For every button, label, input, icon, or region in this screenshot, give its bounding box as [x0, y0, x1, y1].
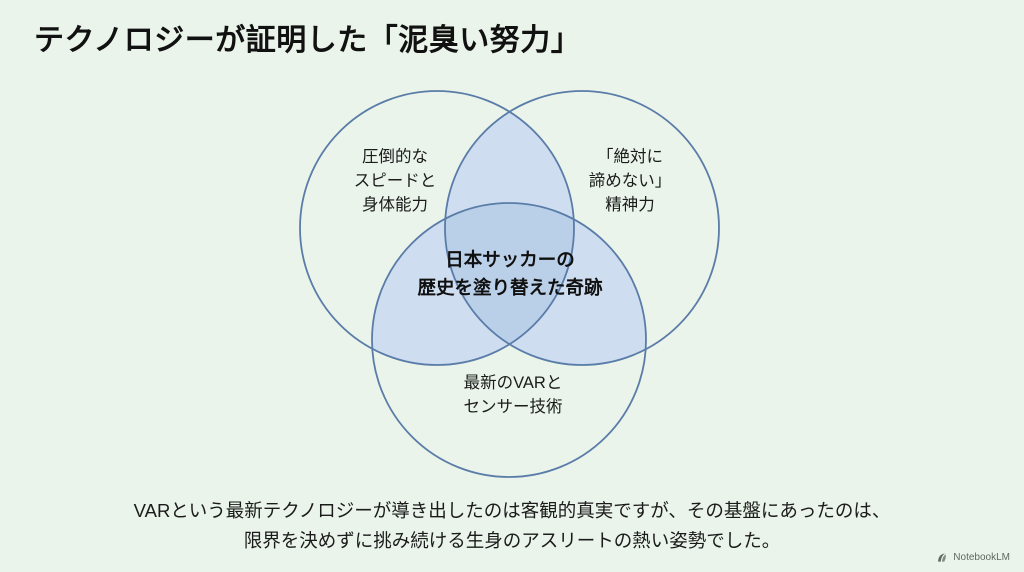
- venn-label-bottom: 最新のVARと センサー技術: [413, 372, 613, 420]
- venn-label-left-line2: スピードと: [300, 170, 490, 194]
- notebooklm-watermark-label: NotebookLM: [953, 552, 1010, 563]
- venn-label-center-line2: 歴史を塗り替えた奇跡: [360, 274, 660, 302]
- venn-label-center-line1: 日本サッカーの: [360, 246, 660, 274]
- venn-label-right-line3: 精神力: [535, 194, 725, 218]
- page-title: テクノロジーが証明した「泥臭い努力」: [34, 22, 581, 60]
- caption-line-2: 限界を決めずに挑み続ける生身のアスリートの熱い姿勢でした。: [0, 526, 1024, 556]
- venn-label-bottom-line2: センサー技術: [413, 396, 613, 420]
- venn-label-center: 日本サッカーの 歴史を塗り替えた奇跡: [360, 246, 660, 302]
- venn-label-right-line2: 諦めない」: [535, 170, 725, 194]
- venn-label-right: 「絶対に 諦めない」 精神力: [535, 146, 725, 218]
- notebooklm-watermark: NotebookLM: [937, 552, 1010, 563]
- venn-label-left-line1: 圧倒的な: [300, 146, 490, 170]
- venn-label-right-line1: 「絶対に: [535, 146, 725, 170]
- caption-line-1: VARという最新テクノロジーが導き出したのは客観的真実ですが、その基盤にあったの…: [0, 496, 1024, 526]
- venn-label-left-line3: 身体能力: [300, 194, 490, 218]
- venn-label-bottom-line1: 最新のVARと: [413, 372, 613, 396]
- venn-diagram: 圧倒的な スピードと 身体能力 「絶対に 諦めない」 精神力 最新のVARと セ…: [280, 78, 740, 488]
- notebooklm-icon: [937, 552, 949, 563]
- venn-label-left: 圧倒的な スピードと 身体能力: [300, 146, 490, 218]
- slide-caption: VARという最新テクノロジーが導き出したのは客観的真実ですが、その基盤にあったの…: [0, 496, 1024, 556]
- slide-canvas: テクノロジーが証明した「泥臭い努力」: [0, 0, 1024, 572]
